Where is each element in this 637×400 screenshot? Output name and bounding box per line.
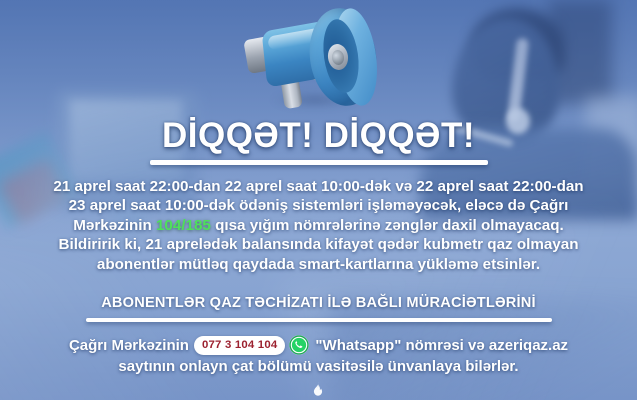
background-dark-panel	[548, 0, 612, 104]
subheading: ABONENTLƏR QAZ TƏCHİZATI İLƏ BAĞLI MÜRAC…	[0, 295, 637, 311]
headline-underline	[150, 160, 488, 165]
body-line-4: Bildiririk ki, 21 aprelədək balansında k…	[10, 235, 627, 254]
megaphone-icon	[244, 6, 384, 110]
announcement-body: 21 aprel saat 22:00-dan 22 aprel saat 10…	[10, 177, 627, 274]
body-line-2: 23 aprel saat 10:00-dək ödəniş sistemlər…	[10, 196, 627, 215]
body-line-3: Mərkəzinin 104/185 qısa yığım nömrələrin…	[10, 216, 627, 235]
whatsapp-icon[interactable]	[288, 334, 310, 356]
body-line-3-prefix: Mərkəzinin	[73, 217, 156, 234]
background-operator-hair	[472, 8, 564, 80]
body-line-3-suffix: qısa yığım nömrələrinə zənglər daxil olm…	[211, 217, 564, 234]
contact-row: Çağrı Mərkəzinin 077 3 104 104 "Whatsapp…	[0, 334, 637, 356]
body-line-5: abonentlər mütləq qaydada smart-kartları…	[10, 255, 627, 274]
background-headset-band	[507, 38, 529, 123]
short-number-highlight: 104/185	[156, 217, 211, 234]
body-line-1: 21 aprel saat 22:00-dan 22 aprel saat 10…	[10, 177, 627, 196]
closing-line: saytının onlayn çat bölümü vasitəsilə ün…	[0, 358, 637, 375]
subheading-underline	[86, 318, 552, 322]
phone-number-badge[interactable]: 077 3 104 104	[194, 336, 285, 355]
contact-prefix-label: Çağrı Mərkəzinin	[69, 337, 189, 354]
contact-suffix-label: "Whatsapp" nömrəsi və azeriqaz.az	[315, 337, 568, 354]
flame-logo-icon	[308, 380, 328, 400]
announcement-banner: DİQQƏT! DİQQƏT! 21 aprel saat 22:00-dan …	[0, 0, 637, 400]
page-title: DİQQƏT! DİQQƏT!	[0, 116, 637, 156]
